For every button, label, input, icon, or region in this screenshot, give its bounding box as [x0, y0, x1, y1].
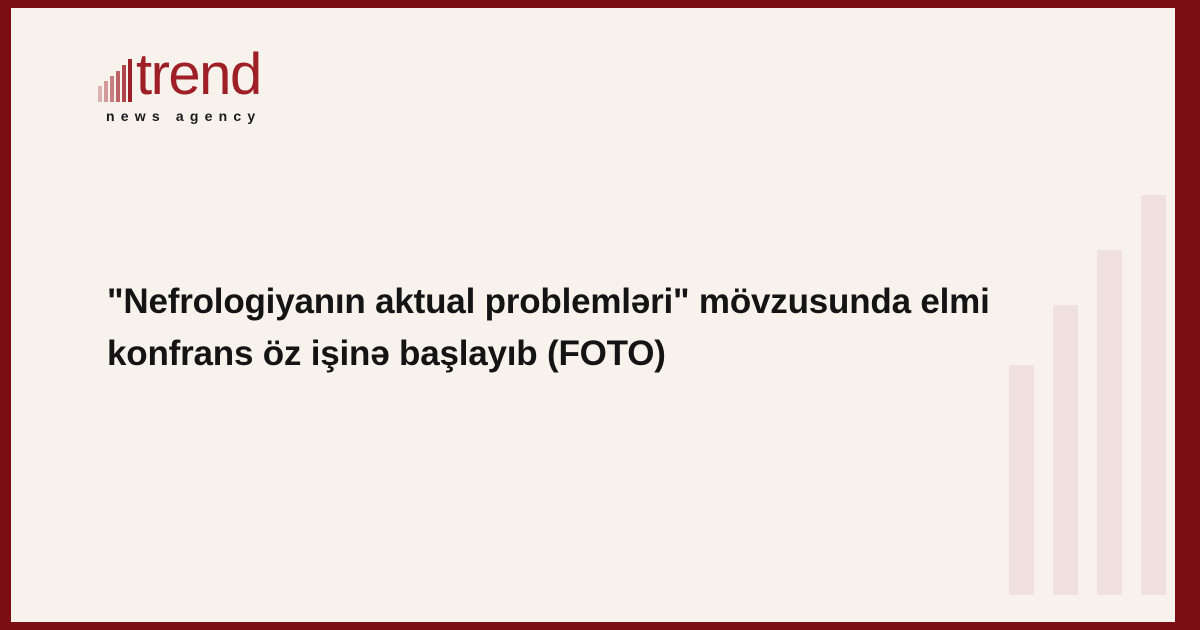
watermark-bar — [1141, 195, 1166, 595]
logo-tagline: news agency — [106, 108, 358, 124]
article-headline: "Nefrologiyanın aktual problemləri" mövz… — [107, 276, 1067, 380]
logo-mark-row: trend — [98, 44, 358, 104]
card-content-area: trend news agency "Nefrologiyanın aktual… — [11, 8, 1175, 622]
logo-wordmark: trend — [136, 46, 261, 104]
watermark-bar — [1097, 250, 1122, 595]
watermark-bar — [1009, 365, 1034, 595]
rising-bars-icon — [98, 58, 134, 102]
social-share-card: trend news agency "Nefrologiyanın aktual… — [0, 0, 1200, 630]
brand-logo[interactable]: trend news agency — [98, 44, 358, 124]
